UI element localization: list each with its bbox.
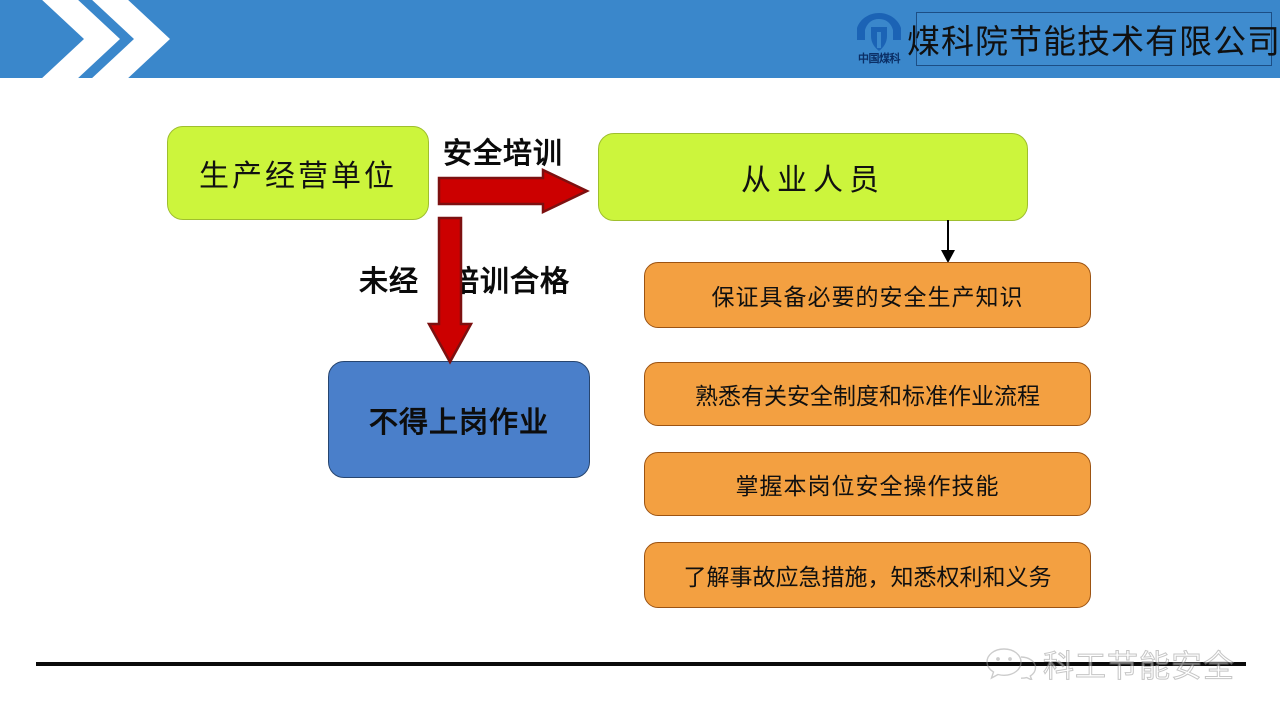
requirement-box: 保证具备必要的安全生产知识 xyxy=(644,262,1091,328)
node-production-unit: 生产经营单位 xyxy=(167,126,429,220)
node-employees: 从业人员 xyxy=(598,133,1028,221)
requirement-box: 掌握本岗位安全操作技能 xyxy=(644,452,1091,516)
chevron-right-icon xyxy=(90,0,176,80)
wechat-icon xyxy=(985,646,1037,680)
arrow-down-icon xyxy=(427,216,475,364)
node-no-work: 不得上岗作业 xyxy=(328,361,590,478)
company-title-box: 煤科院节能技术有限公司 xyxy=(916,12,1272,66)
requirement-box: 了解事故应急措施，知悉权利和义务 xyxy=(644,542,1091,608)
node-production-unit-label: 生产经营单位 xyxy=(199,151,397,195)
edge-label-safety-training: 安全培训 xyxy=(443,130,563,172)
header-band: 中国煤科 煤科院节能技术有限公司 xyxy=(0,0,1280,78)
china-coal-logo-icon: 中国煤科 xyxy=(843,10,915,70)
arrow-down-thin-icon xyxy=(938,220,958,264)
logo-caption: 中国煤科 xyxy=(843,53,915,65)
node-employees-label: 从业人员 xyxy=(741,155,885,199)
requirement-box: 熟悉有关安全制度和标准作业流程 xyxy=(644,362,1091,426)
arrow-right-icon xyxy=(437,168,589,214)
chevron-group xyxy=(40,0,200,80)
requirement-label: 了解事故应急措施，知悉权利和义务 xyxy=(684,558,1052,592)
requirement-label: 掌握本岗位安全操作技能 xyxy=(736,467,1000,501)
company-title: 煤科院节能技术有限公司 xyxy=(907,15,1280,63)
node-no-work-label: 不得上岗作业 xyxy=(369,399,549,441)
watermark: 科工节能安全 xyxy=(985,640,1275,686)
edge-label-untrained: 未经 xyxy=(359,258,419,300)
requirement-label: 熟悉有关安全制度和标准作业流程 xyxy=(695,377,1040,411)
requirement-label: 保证具备必要的安全生产知识 xyxy=(712,278,1024,312)
watermark-text: 科工节能安全 xyxy=(1043,641,1235,686)
slide-canvas: 中国煤科 煤科院节能技术有限公司 生产经营单位 从业人员 不得上岗作业 安全培训… xyxy=(0,0,1280,720)
